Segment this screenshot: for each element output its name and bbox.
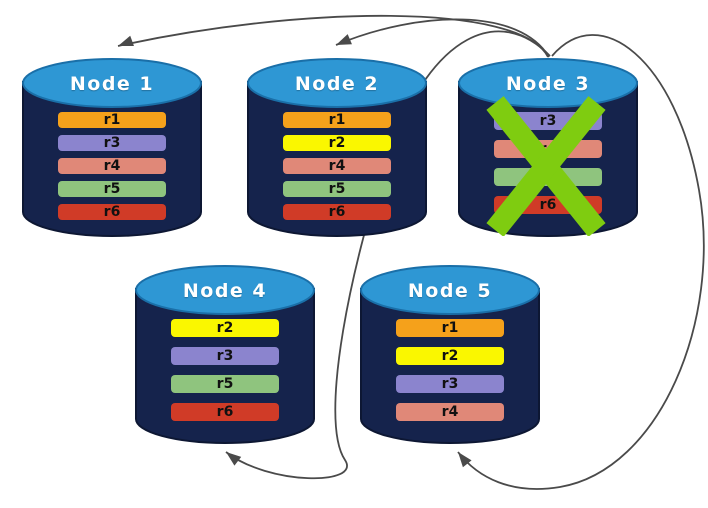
node-1[interactable]: Node 1r1r3r4r5r6 xyxy=(22,58,202,236)
record-r2[interactable]: r2 xyxy=(171,319,279,337)
arrow-node3-to-node5-arrowhead xyxy=(454,449,472,468)
record-r6[interactable]: r6 xyxy=(494,196,602,214)
arrow-node3-to-node4-arrowhead xyxy=(223,448,242,466)
node-5-records: r1r2r3r4 xyxy=(360,319,540,421)
arrow-node3-to-node2-arrowhead xyxy=(334,34,352,50)
node-5[interactable]: Node 5r1r2r3r4 xyxy=(360,265,540,443)
arrow-node3-to-node1 xyxy=(118,16,548,57)
record-r4[interactable]: r4 xyxy=(494,140,602,158)
node-3-records: r3r4r5r6 xyxy=(458,112,638,214)
cylinder-top xyxy=(361,266,539,314)
record-r1[interactable]: r1 xyxy=(283,112,391,128)
record-r5[interactable]: r5 xyxy=(171,375,279,393)
record-r1[interactable]: r1 xyxy=(396,319,504,337)
arrow-node3-to-node1-arrowhead xyxy=(116,36,134,51)
record-r4[interactable]: r4 xyxy=(283,158,391,174)
record-r6[interactable]: r6 xyxy=(171,403,279,421)
arrow-node3-to-node2 xyxy=(336,19,549,57)
cylinder-top xyxy=(23,59,201,107)
record-r3[interactable]: r3 xyxy=(58,135,166,151)
record-r2[interactable]: r2 xyxy=(283,135,391,151)
diagram-canvas: Node 1r1r3r4r5r6Node 2r1r2r4r5r6Node 3r3… xyxy=(0,0,708,508)
record-r4[interactable]: r4 xyxy=(58,158,166,174)
record-r5[interactable]: r5 xyxy=(283,181,391,197)
node-4[interactable]: Node 4r2r3r5r6 xyxy=(135,265,315,443)
record-r5[interactable]: r5 xyxy=(58,181,166,197)
node-2[interactable]: Node 2r1r2r4r5r6 xyxy=(247,58,427,236)
node-1-records: r1r3r4r5r6 xyxy=(22,112,202,220)
node-2-records: r1r2r4r5r6 xyxy=(247,112,427,220)
cylinder-top xyxy=(459,59,637,107)
record-r3[interactable]: r3 xyxy=(171,347,279,365)
record-r6[interactable]: r6 xyxy=(283,204,391,220)
record-r4[interactable]: r4 xyxy=(396,403,504,421)
cylinder-top xyxy=(136,266,314,314)
node-3[interactable]: Node 3r3r4r5r6 xyxy=(458,58,638,236)
record-r3[interactable]: r3 xyxy=(494,112,602,130)
cylinder-top xyxy=(248,59,426,107)
record-r3[interactable]: r3 xyxy=(396,375,504,393)
record-r2[interactable]: r2 xyxy=(396,347,504,365)
record-r1[interactable]: r1 xyxy=(58,112,166,128)
record-r6[interactable]: r6 xyxy=(58,204,166,220)
node-4-records: r2r3r5r6 xyxy=(135,319,315,421)
record-r5[interactable]: r5 xyxy=(494,168,602,186)
